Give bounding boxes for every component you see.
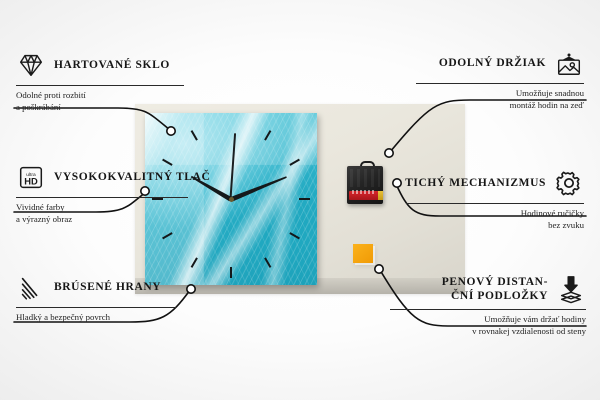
- feature-desc-line: a poškrábání: [16, 102, 216, 114]
- feature-description: Hodinové ručičky bez zvuku: [384, 208, 584, 231]
- aa-battery: [349, 191, 381, 200]
- feature-divider: [390, 309, 586, 310]
- feature-title: HARTOVANÉ SKLO: [54, 58, 170, 72]
- clock-tick: [230, 267, 232, 278]
- feature-divider: [416, 83, 584, 84]
- feature-title-line: PENOVÝ DISTAN-: [442, 275, 548, 289]
- feature-header: BRÚSENÉ HRANY: [16, 272, 216, 302]
- feature-ground-edges: BRÚSENÉ HRANY Hladký a bezpečný povrch: [16, 272, 216, 324]
- feature-divider: [16, 85, 184, 86]
- feature-foam-spacers: PENOVÝ DISTAN- ČNÍ PODLOŽKY Umožňuje vám…: [372, 274, 586, 337]
- feature-description: Odolné proti rozbití a poškrábání: [16, 90, 216, 113]
- feature-title: TICHÝ MECHANIZMUS: [405, 176, 546, 190]
- clock-hand-hub: [229, 197, 234, 202]
- feature-desc-line: v rovnakej vzdialenosti od steny: [372, 326, 586, 338]
- feature-title-line: ČNÍ PODLOŽKY: [442, 289, 548, 303]
- battery-label: [352, 190, 374, 194]
- feature-header: TICHÝ MECHANIZMUS: [384, 168, 584, 198]
- badge-large-text: HD: [24, 177, 38, 187]
- feature-header: ODOLNÝ DRŽIAK: [384, 48, 584, 78]
- feature-high-quality-print: ultra HD VYSOKOKVALITNÝ TLAČ Vividné far…: [16, 162, 216, 225]
- feature-tempered-glass: HARTOVANÉ SKLO Odolné proti rozbití a po…: [16, 50, 216, 113]
- feature-title: PENOVÝ DISTAN- ČNÍ PODLOŽKY: [442, 275, 548, 303]
- picture-frame-hanging-icon: [554, 48, 584, 78]
- infographic-canvas: HARTOVANÉ SKLO Odolné proti rozbití a po…: [0, 0, 600, 400]
- feature-divider: [406, 203, 584, 204]
- feature-desc-line: Hodinové ručičky: [384, 208, 584, 220]
- feature-title: BRÚSENÉ HRANY: [54, 280, 161, 294]
- feature-divider: [16, 307, 176, 308]
- feature-description: Hladký a bezpečný povrch: [16, 312, 216, 324]
- feature-header: HARTOVANÉ SKLO: [16, 50, 216, 80]
- foam-spacer-pad: [353, 244, 373, 263]
- feature-desc-line: montáž hodin na zeď: [384, 100, 584, 112]
- feature-desc-line: a výrazný obraz: [16, 214, 216, 226]
- mechanism-embossed-text: [350, 169, 380, 187]
- feature-desc-line: Odolné proti rozbití: [16, 90, 216, 102]
- feature-silent-mechanism: TICHÝ MECHANIZMUS Hodinové ručičky bez z…: [384, 168, 584, 231]
- ground-edges-icon: [16, 272, 46, 302]
- feature-desc-line: Umožňuje snadnou: [384, 88, 584, 100]
- feature-description: Umožňuje vám držať hodiny v rovnakej vzd…: [372, 314, 586, 337]
- feature-header: ultra HD VYSOKOKVALITNÝ TLAČ: [16, 162, 216, 192]
- feature-header: PENOVÝ DISTAN- ČNÍ PODLOŽKY: [372, 274, 586, 304]
- feature-desc-line: Umožňuje vám držať hodiny: [372, 314, 586, 326]
- battery-positive-cap: [378, 191, 383, 200]
- ultra-hd-badge-icon: ultra HD: [16, 162, 46, 192]
- mechanism-housing: [347, 166, 383, 204]
- clock-tick: [299, 198, 310, 200]
- feature-description: Vividné farby a výrazný obraz: [16, 202, 216, 225]
- feature-description: Umožňuje snadnou montáž hodin na zeď: [384, 88, 584, 111]
- feature-title: VYSOKOKVALITNÝ TLAČ: [54, 170, 210, 184]
- feature-divider: [16, 197, 188, 198]
- clock-mechanism: [347, 166, 383, 204]
- diamond-icon: [16, 50, 46, 80]
- feature-desc-line: bez zvuku: [384, 220, 584, 232]
- press-down-layers-icon: [556, 274, 586, 304]
- gear-icon: [554, 168, 584, 198]
- feature-desc-line: Vividné farby: [16, 202, 216, 214]
- feature-desc-line: Hladký a bezpečný povrch: [16, 312, 216, 324]
- feature-durable-holder: ODOLNÝ DRŽIAK Umožňuje snadnou montáž ho…: [384, 48, 584, 111]
- feature-title: ODOLNÝ DRŽIAK: [439, 56, 546, 70]
